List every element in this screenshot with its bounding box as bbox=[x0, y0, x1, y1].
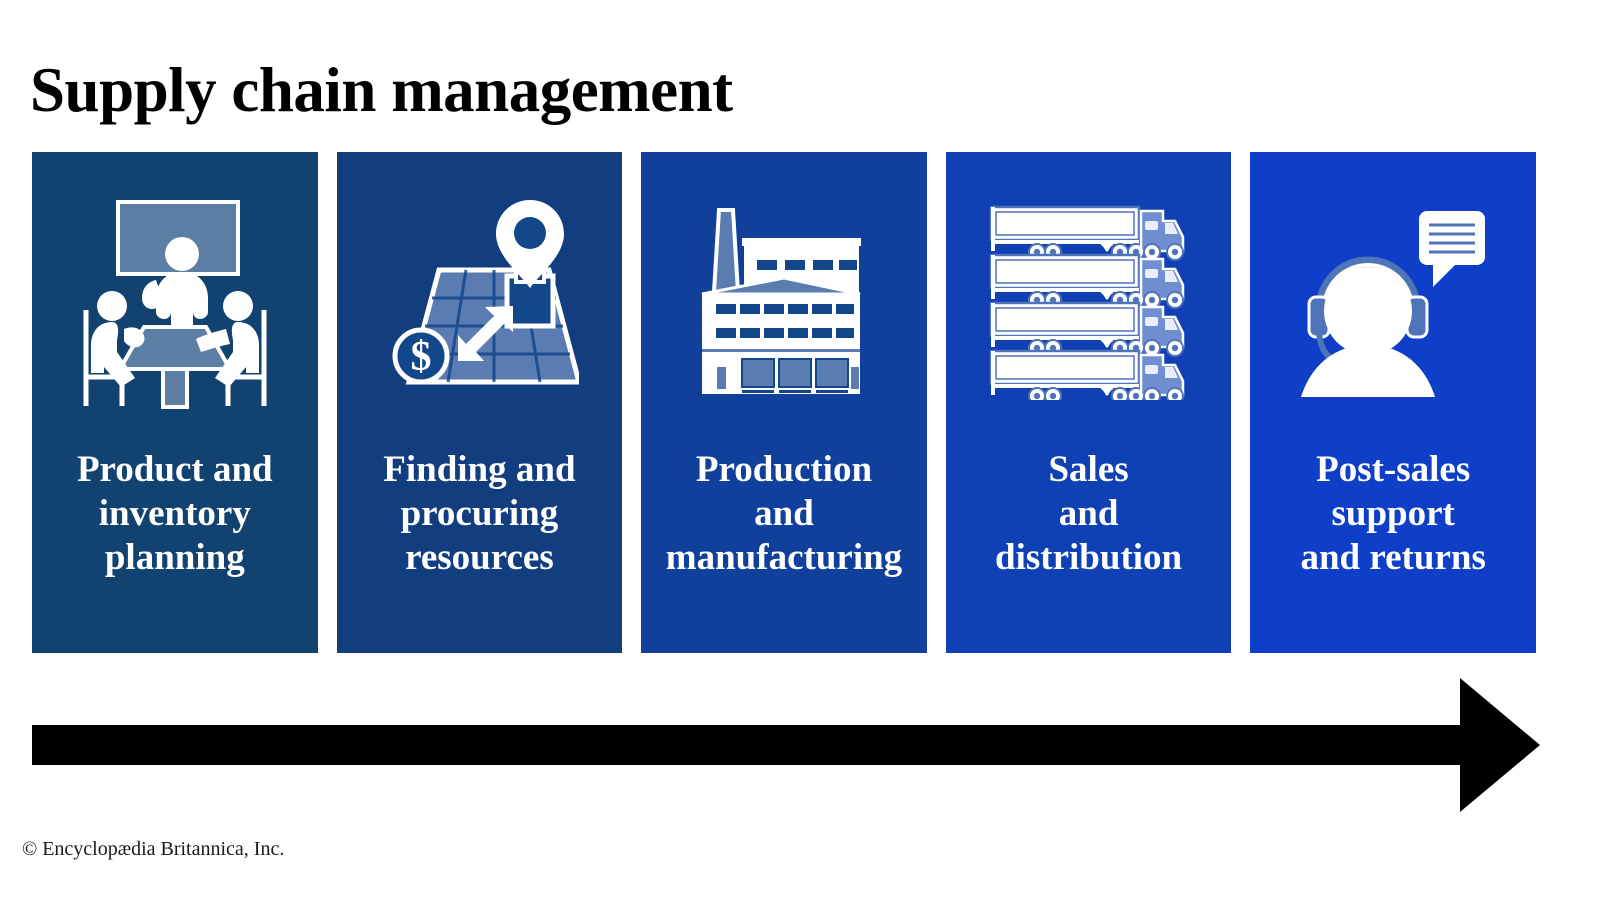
stage-label: Post-sales support and returns bbox=[1250, 448, 1536, 580]
stage-product-and-inventory-planning[interactable]: Product and inventory planning bbox=[32, 152, 318, 653]
semi-trucks-icon bbox=[946, 152, 1232, 452]
stage-label: Sales and distribution bbox=[946, 448, 1232, 580]
factory-icon bbox=[641, 152, 927, 452]
support-agent-icon bbox=[1250, 152, 1536, 452]
stage-sales-and-distribution[interactable]: Sales and distribution bbox=[946, 152, 1232, 653]
stage-production-and-manufacturing[interactable]: Production and manufacturing bbox=[641, 152, 927, 653]
copyright-credit: © Encyclopædia Britannica, Inc. bbox=[22, 838, 284, 861]
supply-chain-stages: Product and inventory planning bbox=[32, 152, 1536, 653]
stage-label: Production and manufacturing bbox=[641, 448, 927, 580]
meeting-presentation-icon bbox=[32, 152, 318, 452]
process-flow-arrow bbox=[32, 676, 1540, 814]
stage-label: Product and inventory planning bbox=[32, 448, 318, 580]
page-title: Supply chain management bbox=[30, 56, 733, 125]
stage-label: Finding and procuring resources bbox=[337, 448, 623, 580]
sourcing-map-icon: $ bbox=[337, 152, 623, 452]
svg-text:$: $ bbox=[411, 334, 432, 380]
stage-finding-and-procuring-resources[interactable]: $ Finding and procuring resources bbox=[337, 152, 623, 653]
stage-post-sales-support-and-returns[interactable]: Post-sales support and returns bbox=[1250, 152, 1536, 653]
